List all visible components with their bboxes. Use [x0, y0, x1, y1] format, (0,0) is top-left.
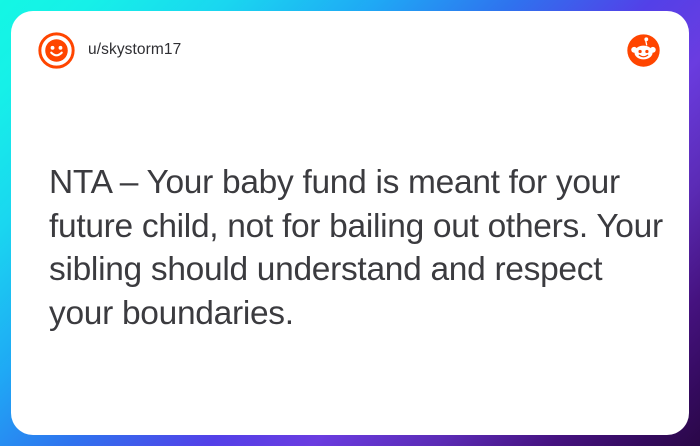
- reddit-comment-card: u/skystorm17: [11, 11, 689, 435]
- reddit-snoo-icon: [626, 33, 661, 68]
- comment-body-text: NTA – Your baby fund is meant for your f…: [49, 161, 663, 335]
- smiley-face-icon: [38, 32, 75, 69]
- screenshot-canvas: u/skystorm17: [0, 0, 700, 446]
- card-header: u/skystorm17: [11, 11, 689, 89]
- author-username[interactable]: u/skystorm17: [88, 41, 181, 59]
